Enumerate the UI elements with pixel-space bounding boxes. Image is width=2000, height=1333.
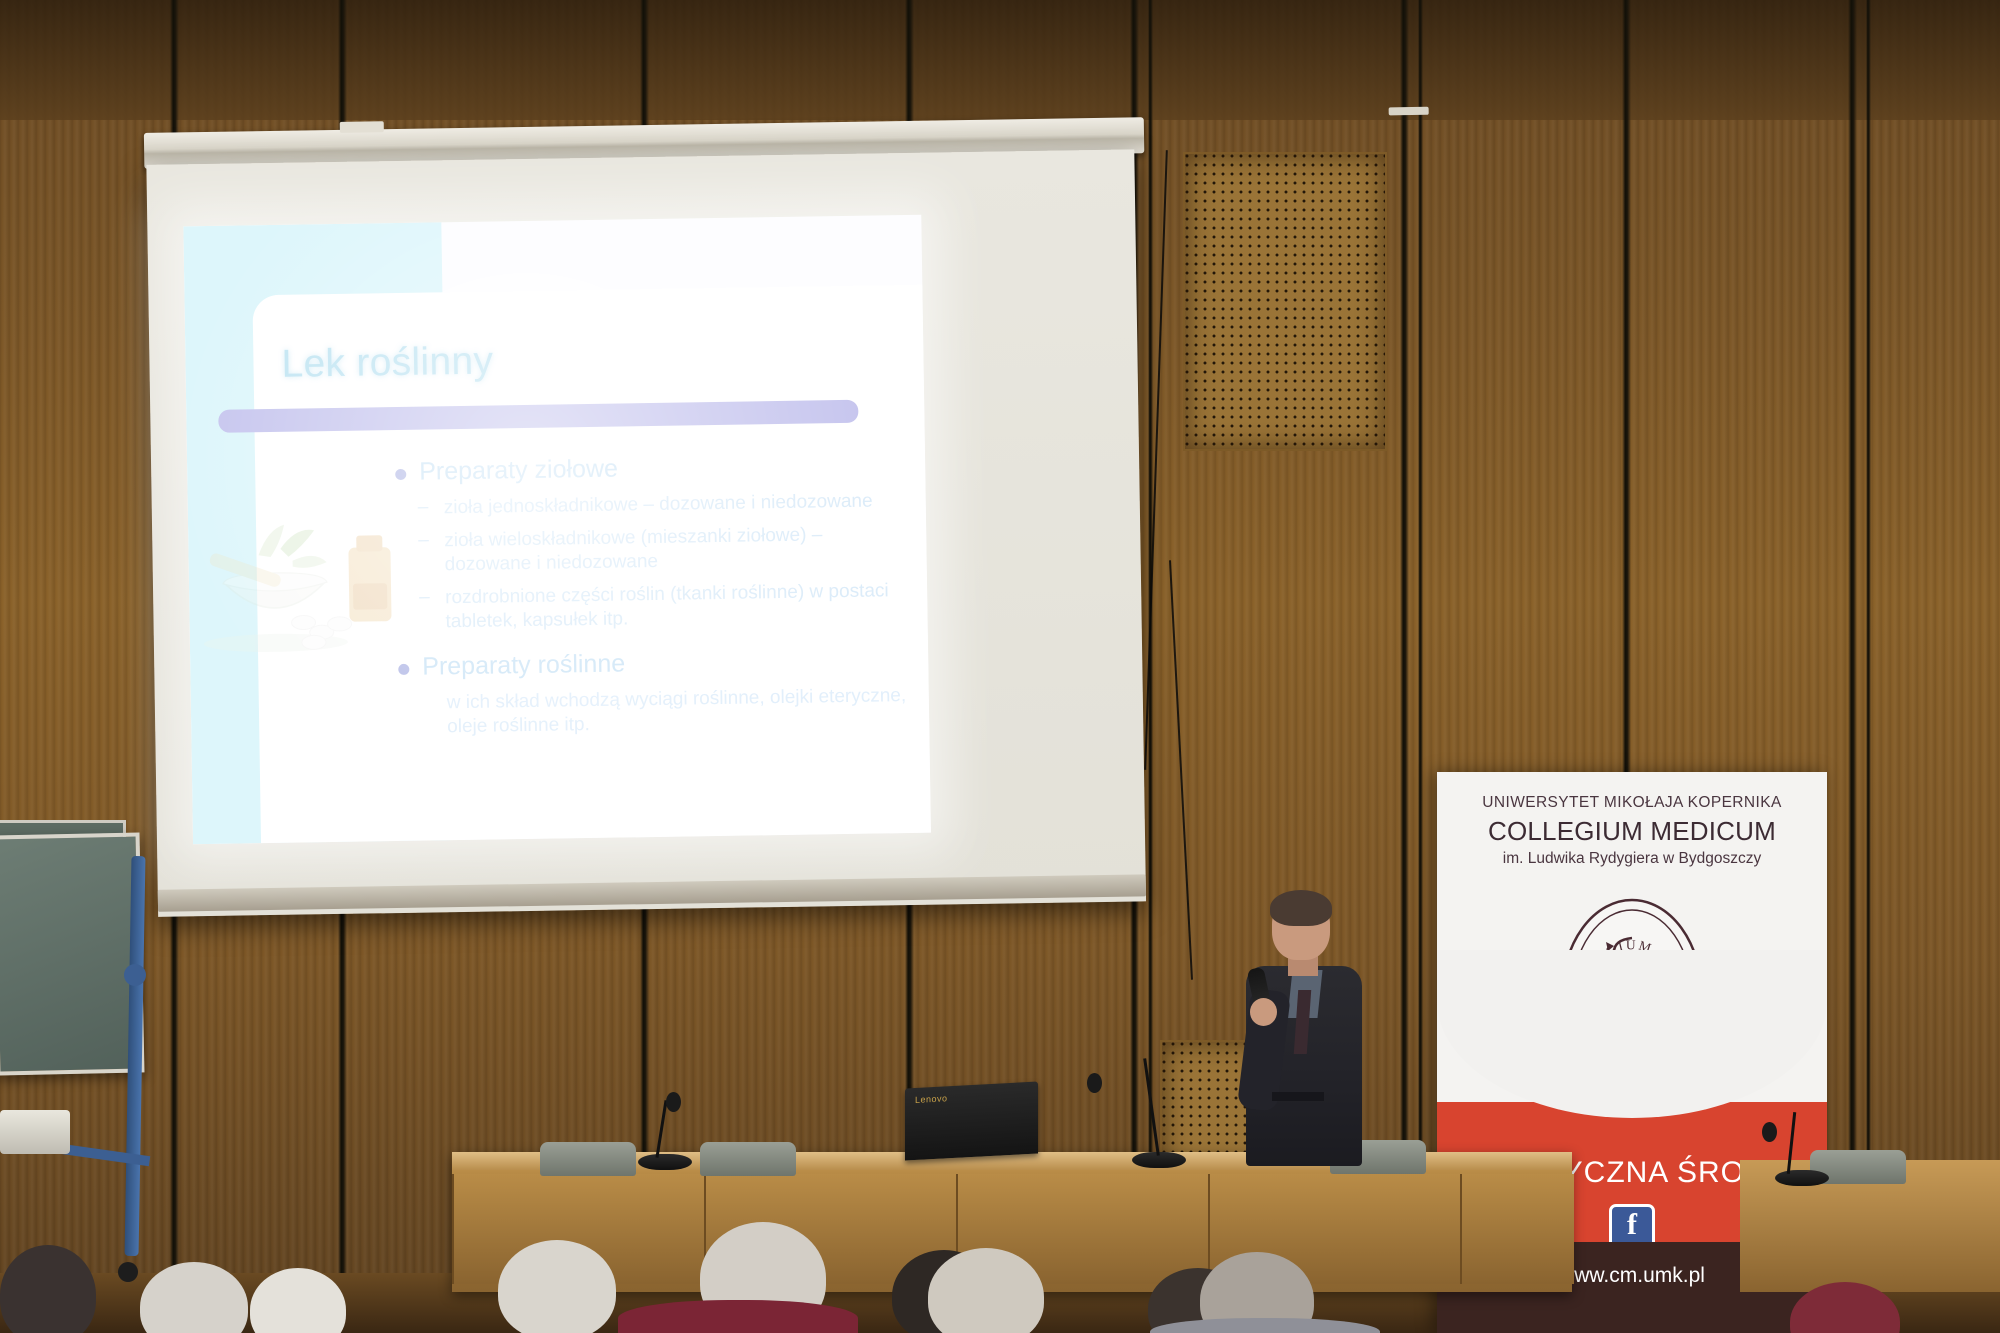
banner-collegium-line: COLLEGIUM MEDICUM — [1437, 816, 1827, 847]
wall-seam — [1418, 0, 1423, 1333]
lecture-hall-photo: Lek roślinny — [0, 0, 2000, 1333]
banner-patron-line: im. Ludwika Rydygiera w Bydgoszczy — [1437, 850, 1827, 868]
wall-seam — [1848, 0, 1857, 1333]
presenter-hair — [1270, 890, 1332, 926]
wall-seam — [1866, 0, 1871, 1333]
presenter-jacket-pocket — [1272, 1092, 1324, 1101]
banner-university-line: UNIWERSYTET MIKOŁAJA KOPERNIKA — [1437, 794, 1827, 812]
slide-bullet-2: Preparaty roślinne — [392, 645, 912, 682]
microphone-head — [666, 1092, 681, 1112]
slide-subbullet: w ich skład wchodzą wyciągi roślinne, ol… — [393, 684, 914, 740]
wall-upper-shadow — [0, 0, 2000, 120]
chair — [700, 1142, 796, 1176]
presenter — [1244, 894, 1364, 1164]
wall-seam — [1400, 0, 1409, 1333]
chair — [540, 1142, 636, 1176]
microphone-head — [1087, 1073, 1102, 1093]
herbal-preparation-image — [196, 491, 414, 654]
projected-slide: Lek roślinny — [183, 215, 931, 845]
slide-subbullet: rozdrobnione części roślin (tkanki rośli… — [391, 579, 912, 635]
screen-housing-tab — [1389, 107, 1429, 116]
microphone-head — [1762, 1122, 1777, 1142]
table-panel — [1460, 1174, 1574, 1284]
slide-bullet-list: Preparaty ziołowe zioła jednoskładnikowe… — [389, 450, 913, 740]
projection-screen: Lek roślinny — [154, 117, 1151, 922]
audience-shoulders — [618, 1300, 858, 1333]
audience-head — [498, 1240, 616, 1333]
chalkboard-adjust-knob[interactable] — [124, 964, 146, 986]
laptop-brand-label: Lenovo — [915, 1093, 948, 1105]
slide-title: Lek roślinny — [281, 339, 493, 386]
screen-canvas: Lek roślinny — [146, 149, 1146, 916]
caster-wheel — [118, 1262, 138, 1282]
slide-subbullet: zioła jednoskładnikowe – dozowane i nied… — [390, 489, 910, 521]
microphone-base — [1775, 1170, 1829, 1186]
green-chalkboard — [0, 832, 144, 1075]
slide-subbullet: zioła wieloskładnikowe (mieszanki ziołow… — [390, 522, 911, 578]
microphone-base — [638, 1154, 692, 1170]
presenter-hand — [1250, 998, 1277, 1026]
laptop[interactable]: Lenovo — [905, 1082, 1038, 1161]
acoustic-panel — [1183, 152, 1387, 451]
screen-housing-tab — [340, 121, 384, 133]
table-projector — [0, 1110, 70, 1154]
